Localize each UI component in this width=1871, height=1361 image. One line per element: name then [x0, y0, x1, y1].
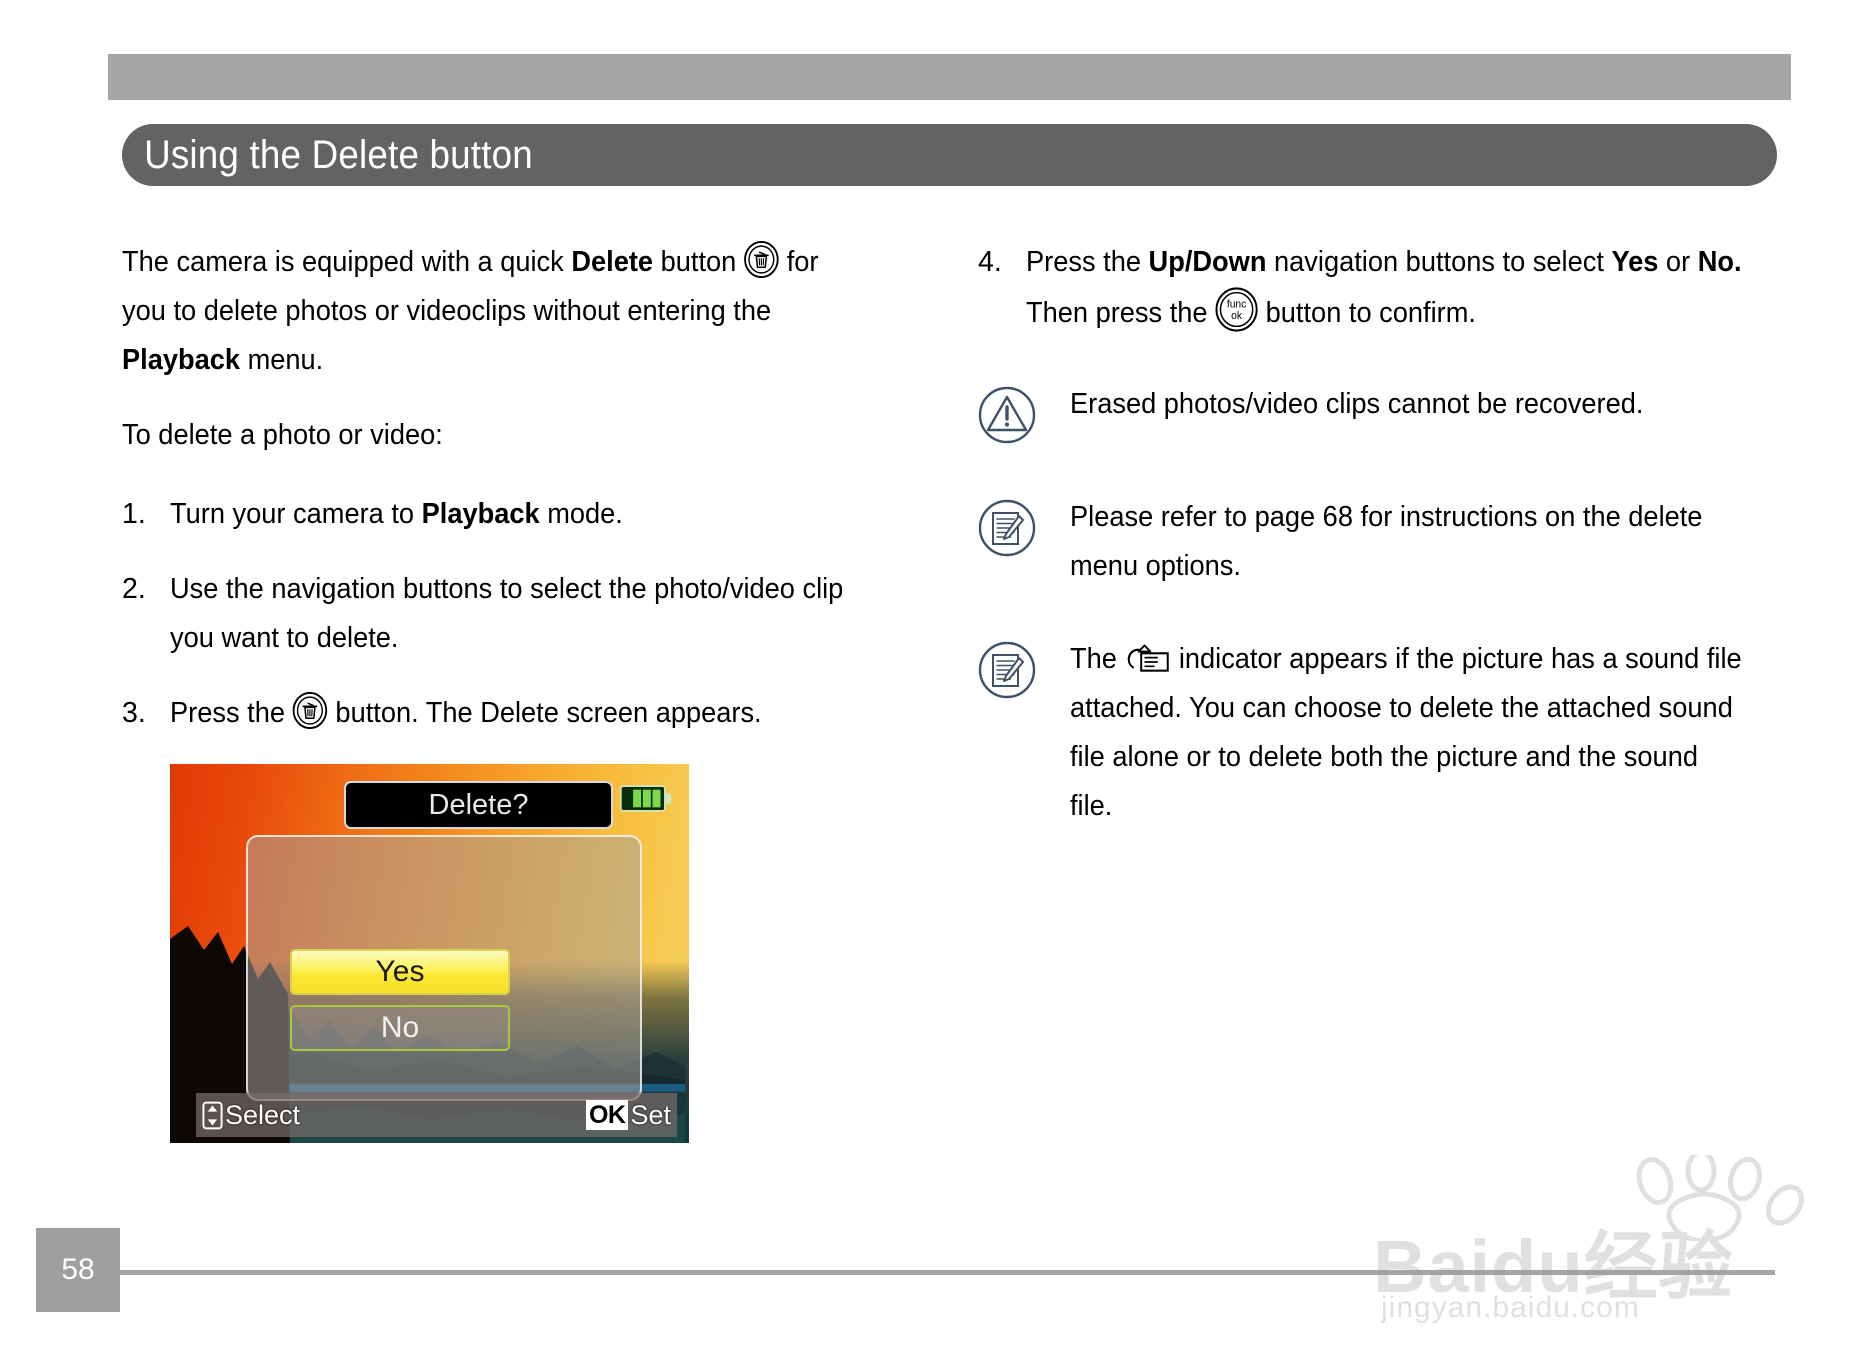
camera-select-label: Select	[225, 1100, 300, 1131]
step4-bold-updown: Up/Down	[1149, 246, 1267, 278]
note-warning: Erased photos/video clips cannot be reco…	[978, 380, 1778, 449]
step-text-part1: Turn your camera to	[170, 498, 422, 530]
camera-screen-screenshot: Delete? Yes No Select	[170, 764, 689, 1143]
page-number: 58	[61, 1253, 94, 1287]
baidu-paw-logo-icon	[1621, 1155, 1811, 1241]
camera-ok-key: OK	[586, 1100, 629, 1130]
step4-part4: Then press the	[1026, 297, 1215, 329]
step-text-part2: mode.	[540, 498, 623, 530]
left-column: The camera is equipped with a quick Dele…	[122, 238, 882, 1143]
intro-text-4: menu.	[240, 344, 323, 376]
intro-text-1: The camera is equipped with a quick	[122, 246, 571, 278]
lead-in-text: To delete a photo or video:	[122, 411, 848, 460]
note-sound-file: The indicator appears if the picture has…	[978, 635, 1778, 831]
list-item: 4. Press the Up/Down navigation buttons …	[978, 238, 1778, 338]
up-down-arrows-icon	[202, 1101, 223, 1130]
warning-icon	[978, 386, 1036, 444]
watermark-brand-part2: du	[1491, 1225, 1583, 1308]
step-number: 3.	[122, 689, 170, 738]
camera-status-bar: Select OK Set	[196, 1093, 677, 1137]
step4-part5: button to confirm.	[1258, 297, 1476, 329]
step-text: Turn your camera to Playback mode.	[170, 490, 850, 539]
step4-part1: Press the	[1026, 246, 1149, 278]
camera-select-hint: Select	[202, 1100, 300, 1131]
watermark-sub: jingyan.baidu.com	[1381, 1291, 1640, 1325]
note-icon	[978, 641, 1036, 699]
note-text: Please refer to page 68 for instructions…	[1070, 493, 1746, 591]
page-title: Using the Delete button	[122, 133, 533, 178]
watermark-brand: Baidu经验	[1373, 1207, 1734, 1314]
note-icon-wrap	[978, 493, 1070, 591]
svg-text:ok: ok	[1231, 310, 1243, 322]
delete-button-icon	[744, 241, 779, 278]
baidu-watermark: Baidu经验 jingyan.baidu.com	[1373, 1155, 1833, 1325]
list-item: 3. Press the button. The Delete screen a…	[122, 689, 882, 738]
steps-list: 1. Turn your camera to Playback mode. 2.…	[122, 490, 882, 738]
delete-button-icon	[293, 692, 328, 729]
step-number: 2.	[122, 565, 170, 663]
watermark-brand-part1: Bai	[1373, 1225, 1491, 1308]
step4-part3: or	[1658, 246, 1697, 278]
camera-yes-button[interactable]: Yes	[290, 949, 510, 995]
note-icon	[978, 499, 1036, 557]
list-item: 1. Turn your camera to Playback mode.	[122, 490, 882, 539]
camera-dialog-title: Delete?	[344, 781, 613, 829]
note-icon-wrap	[978, 380, 1070, 449]
camera-yes-label: Yes	[376, 955, 425, 989]
battery-icon	[619, 782, 672, 815]
intro-text-2: button	[653, 246, 744, 278]
step-bold: Playback	[422, 498, 540, 530]
step4-bold-yes: Yes	[1611, 246, 1658, 278]
camera-dialog-title-text: Delete?	[429, 789, 529, 822]
camera-no-label: No	[381, 1011, 419, 1045]
page-title-bar: Using the Delete button	[122, 124, 1777, 186]
camera-ok-hint: OK Set	[586, 1100, 671, 1131]
note-reference: Please refer to page 68 for instructions…	[978, 493, 1778, 591]
camera-set-label: Set	[630, 1100, 671, 1131]
note-text-part1: The	[1070, 643, 1124, 675]
step-text: Press the Up/Down navigation buttons to …	[1026, 238, 1744, 338]
step4-part2: navigation buttons to select	[1266, 246, 1611, 278]
camera-no-button[interactable]: No	[290, 1005, 510, 1051]
note-text: Erased photos/video clips cannot be reco…	[1070, 380, 1746, 449]
intro-bold-playback: Playback	[122, 344, 240, 376]
func-ok-button-icon: func ok	[1215, 287, 1258, 332]
page-number-box: 58	[36, 1228, 120, 1312]
list-item: 2. Use the navigation buttons to select …	[122, 565, 882, 663]
intro-paragraph: The camera is equipped with a quick Dele…	[122, 238, 848, 385]
right-column: 4. Press the Up/Down navigation buttons …	[978, 238, 1778, 875]
step-number: 1.	[122, 490, 170, 539]
step-number: 4.	[978, 238, 1026, 338]
note-text-part2: indicator appears if the picture has a s…	[1070, 643, 1742, 822]
step-text-part1: Press the	[170, 697, 293, 729]
intro-bold-delete: Delete	[571, 246, 653, 278]
step-text-part2: button. The Delete screen appears.	[328, 697, 762, 729]
steps-list-continued: 4. Press the Up/Down navigation buttons …	[978, 238, 1778, 338]
step-text: Press the button. The Delete screen appe…	[170, 689, 850, 738]
footer-rule	[120, 1270, 1775, 1275]
step4-bold-no: No.	[1698, 246, 1742, 278]
note-icon-wrap	[978, 635, 1070, 831]
sound-file-indicator-icon	[1124, 642, 1171, 675]
page-top-rule	[108, 54, 1791, 100]
note-text: The indicator appears if the picture has…	[1070, 635, 1746, 831]
watermark-brand-part3: 经验	[1584, 1225, 1734, 1308]
step-text: Use the navigation buttons to select the…	[170, 565, 850, 663]
